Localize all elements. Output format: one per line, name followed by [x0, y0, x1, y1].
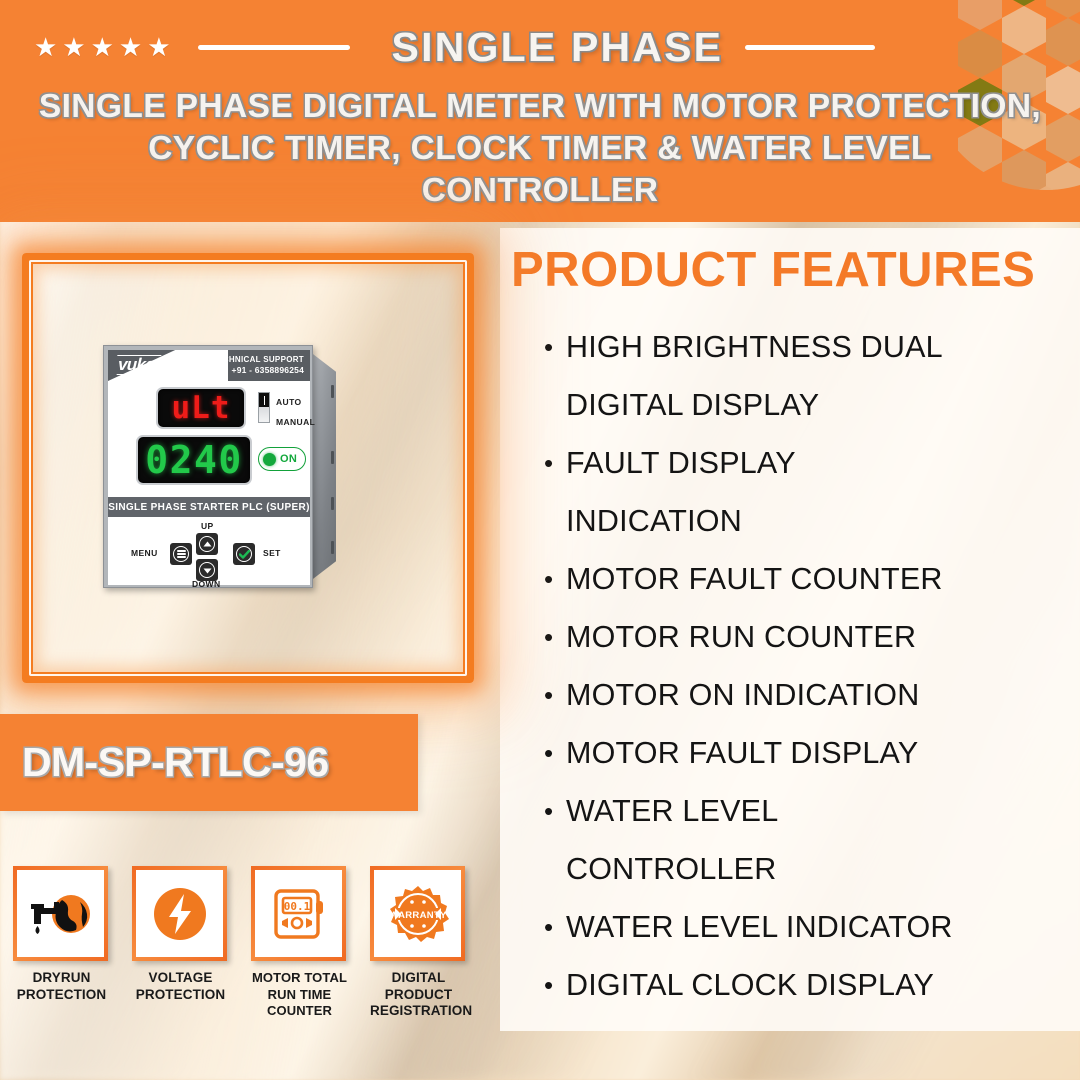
badge-dryrun-protection: DRYRUN PROTECTION [13, 866, 110, 1020]
menu-icon [173, 546, 189, 562]
badge-caption: MOTOR TOTAL RUN TIME COUNTER [251, 970, 348, 1020]
support-phone-number: +91 - 6358896254 [212, 365, 304, 376]
switch-auto-label: AUTO [276, 397, 302, 407]
divider-line-right [745, 45, 875, 50]
menu-button[interactable] [170, 543, 192, 565]
feature-item: WATER LEVEL CONTROLLER [544, 782, 1074, 898]
divider-line-left [198, 45, 350, 50]
badge-digital-product-registration: WARRANTY DIGITAL PRODUCT REGISTRATION [370, 866, 467, 1020]
switch-manual-label: MANUAL [276, 417, 315, 427]
lightning-bolt-icon [150, 884, 210, 944]
svg-text:00.1: 00.1 [283, 900, 310, 913]
device-front-face: vukar ® TECHNICAL SUPPORT +91 - 63588962… [108, 350, 310, 585]
feature-item: WATER LEVEL INDICATOR [544, 898, 1074, 956]
meter-counter-icon: 00.1 [268, 885, 330, 943]
up-button[interactable] [196, 533, 218, 555]
badge-caption: DRYRUN PROTECTION [13, 970, 110, 1003]
brand-logo: vukar [117, 355, 162, 375]
device-side-profile [309, 351, 336, 582]
down-button-label: DOWN [192, 579, 221, 589]
feature-item: MOTOR FAULT DISPLAY [544, 724, 1074, 782]
badge-caption: DIGITAL PRODUCT REGISTRATION [370, 970, 467, 1020]
set-button[interactable] [233, 543, 255, 565]
seven-segment-display-top: uLt [156, 387, 246, 429]
device-button-zone: MENU UP DOWN [108, 517, 310, 585]
features-list: HIGH BRIGHTNESS DUAL DIGITAL DISPLAY FAU… [544, 318, 1074, 1014]
faucet-globe-icon [28, 888, 94, 940]
product-features-panel: PRODUCT FEATURES HIGH BRIGHTNESS DUAL DI… [500, 228, 1080, 1031]
device-model-strip-label: SINGLE PHASE STARTER PLC (SUPER) [108, 502, 310, 513]
badge-frame [13, 866, 108, 961]
badge-frame: 00.1 [251, 866, 346, 961]
star-rating: ★★★★★ [34, 34, 176, 60]
badge-inner: 00.1 [255, 870, 342, 957]
features-title: PRODUCT FEATURES [511, 246, 1035, 295]
warranty-seal-icon: WARRANTY [387, 884, 449, 944]
svg-text:WARRANTY: WARRANTY [389, 910, 447, 921]
device-body: vukar ® TECHNICAL SUPPORT +91 - 63588962… [103, 345, 313, 588]
chevron-up-icon [199, 536, 215, 552]
badge-caption: VOLTAGE PROTECTION [132, 970, 229, 1003]
down-button[interactable] [196, 559, 218, 581]
feature-item: MOTOR RUN COUNTER [544, 608, 1074, 666]
check-icon [236, 546, 252, 562]
feature-item: DIGITAL CLOCK DISPLAY [544, 956, 1074, 1014]
header-kicker: SINGLE PHASE [392, 27, 724, 68]
feature-item: MOTOR ON INDICATION [544, 666, 1074, 724]
device-brand-bar: vukar ® TECHNICAL SUPPORT +91 - 63588962… [108, 350, 310, 381]
display-bottom-value: 0240 [145, 441, 243, 479]
badge-inner [136, 870, 223, 957]
badge-motor-run-time-counter: 00.1 MOTOR TOTAL RUN TIME COUNTER [251, 866, 348, 1020]
seven-segment-display-bottom: 0240 [136, 435, 252, 485]
badge-inner: WARRANTY [374, 870, 461, 957]
badge-voltage-protection: VOLTAGE PROTECTION [132, 866, 229, 1020]
header-subtitle: SINGLE PHASE DIGITAL METER WITH MOTOR PR… [0, 86, 1080, 212]
display-top-value: uLt [172, 393, 231, 424]
feature-item: MOTOR FAULT COUNTER [544, 550, 1074, 608]
up-button-label: UP [201, 521, 214, 531]
product-device-image: vukar ® TECHNICAL SUPPORT +91 - 63588962… [103, 345, 335, 588]
badge-frame [132, 866, 227, 961]
device-display-zone: uLt 0240 AUTO MANUAL [108, 381, 310, 497]
switch-option-manual[interactable]: MANUAL [258, 413, 315, 430]
model-number: DM-SP-RTLC-96 [22, 739, 329, 786]
feature-badges-row: DRYRUN PROTECTION VOLTAGE PROTECTION 00.… [13, 866, 498, 1020]
set-button-label: SET [263, 548, 281, 558]
technical-support-block: TECHNICAL SUPPORT +91 - 6358896254 [212, 354, 304, 376]
device-model-strip: SINGLE PHASE STARTER PLC (SUPER) [108, 497, 310, 517]
menu-button-label: MENU [131, 548, 158, 558]
model-number-banner: DM-SP-RTLC-96 [0, 714, 418, 811]
support-label: TECHNICAL SUPPORT [212, 354, 304, 365]
status-badge-label: ON [280, 453, 297, 465]
status-badge-on: ON [258, 447, 306, 471]
registered-mark-icon: ® [173, 354, 178, 361]
status-led-icon [263, 453, 276, 466]
feature-item: FAULT DISPLAY INDICATION [544, 434, 1074, 550]
switch-option-auto[interactable]: AUTO [258, 393, 302, 410]
feature-item: HIGH BRIGHTNESS DUAL DIGITAL DISPLAY [544, 318, 1074, 434]
badge-inner [17, 870, 104, 957]
chevron-down-icon [199, 562, 215, 578]
badge-frame: WARRANTY [370, 866, 465, 961]
header-banner: ★★★★★ SINGLE PHASE SINGLE PHASE DIGITAL … [0, 0, 1080, 222]
